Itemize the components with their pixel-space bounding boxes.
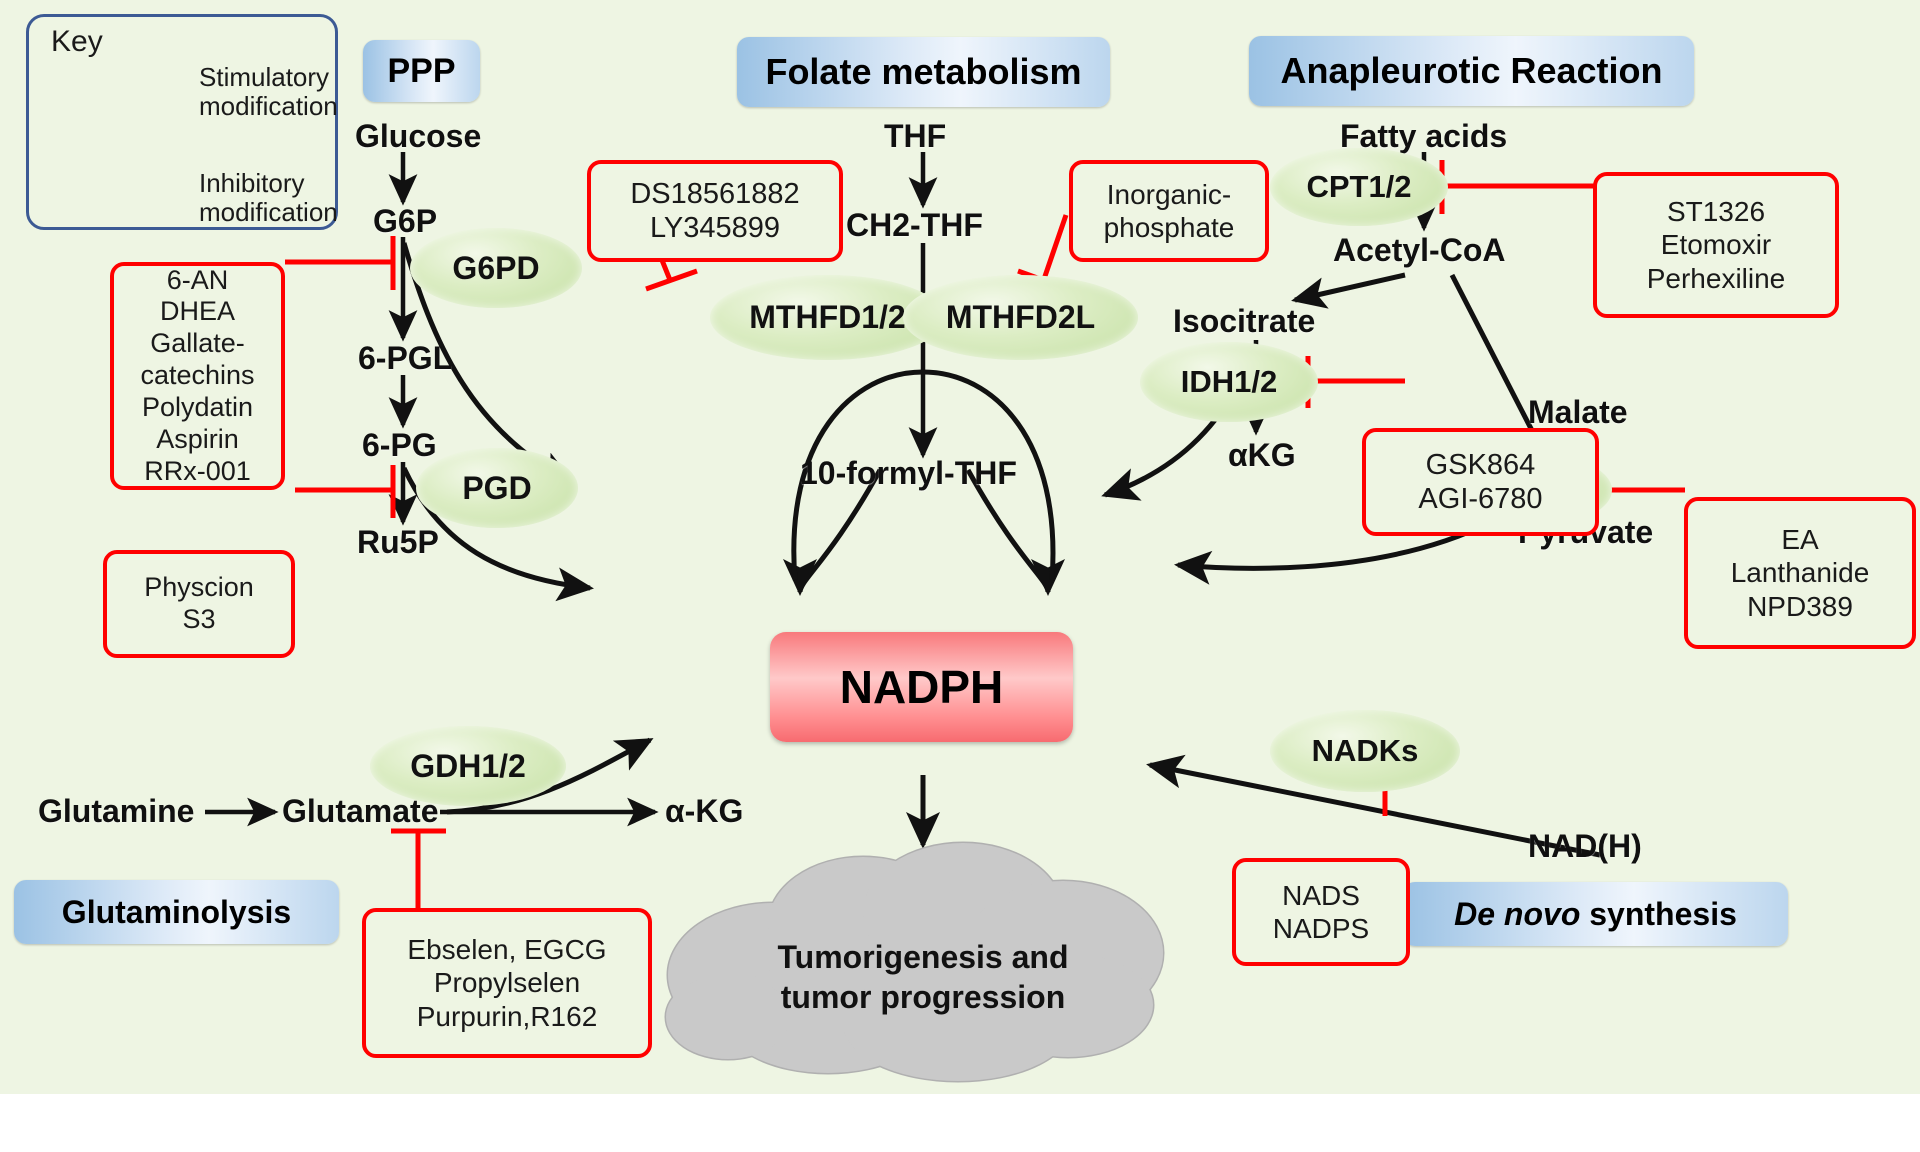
key-title: Key xyxy=(51,25,103,59)
metabolite-akg: αKG xyxy=(1228,437,1296,474)
inhibitor-bar-mthfd12 xyxy=(646,271,697,289)
drug-name: Polydatin xyxy=(142,392,253,424)
drug-name: NPD389 xyxy=(1747,590,1853,623)
enzyme-nadks: NADKs xyxy=(1270,710,1460,792)
metabolite-thf: THF xyxy=(884,118,946,155)
drug-name: EA xyxy=(1781,523,1818,556)
key-legend-box: Key Stimulatorymodification Inhibitorymo… xyxy=(26,14,338,230)
drug-name: AGI-6780 xyxy=(1418,482,1542,516)
drug-name: Propylselen xyxy=(434,966,580,999)
drug-box-me-inhibitors[interactable]: EALanthanideNPD389 xyxy=(1684,497,1916,649)
drug-name: Ebselen, EGCG xyxy=(407,933,606,966)
drug-name: S3 xyxy=(182,604,215,636)
metabolite-ch2-thf: CH2-THF xyxy=(846,207,983,244)
drug-name: phosphate xyxy=(1104,211,1235,244)
drug-name: 6-AN xyxy=(167,265,229,297)
drug-box-mthfd12-inhibitors[interactable]: DS18561882LY345899 xyxy=(587,160,843,262)
drug-name: LY345899 xyxy=(650,211,780,245)
enzyme-g6pd: G6PD xyxy=(410,228,582,308)
key-stimulatory-label: Stimulatorymodification xyxy=(199,63,338,121)
section-header-anapleurotic: Anapleurotic Reaction xyxy=(1249,36,1694,106)
metabolite-acetyl-coa: Acetyl-CoA xyxy=(1333,232,1505,269)
metabolite-isocitrate: Isocitrate xyxy=(1173,303,1315,340)
metabolite-glutamine: Glutamine xyxy=(38,793,194,830)
drug-box-gdh-inhibitors[interactable]: Ebselen, EGCGPropylselenPurpurin,R162 xyxy=(362,908,652,1058)
key-inhibitory-label: Inhibitorymodification xyxy=(199,169,338,227)
enzyme-idh1-2: IDH1/2 xyxy=(1140,342,1318,422)
metabolite-ru5p: Ru5P xyxy=(357,524,439,561)
drug-name: Lanthanide xyxy=(1731,556,1870,589)
section-header-folate: Folate metabolism xyxy=(737,37,1110,107)
enzyme-gdh: GDH1/2 xyxy=(370,726,566,806)
drug-name: ST1326 xyxy=(1667,195,1765,228)
section-header-ppp: PPP xyxy=(363,40,480,102)
drug-name: Gallate- xyxy=(150,328,245,360)
drug-name: RRx-001 xyxy=(144,456,251,488)
metabolite-akg-glutaminolysis: α-KG xyxy=(665,793,743,830)
metabolite-10-formyl-thf: 10-formyl-THF xyxy=(800,455,1017,492)
drug-name: GSK864 xyxy=(1426,448,1536,482)
drug-box-pgd-inhibitors[interactable]: PhyscionS3 xyxy=(103,550,295,658)
drug-name: Inorganic- xyxy=(1107,178,1232,211)
metabolite-6pgl: 6-PGL xyxy=(358,340,452,377)
metabolite-g6p: G6P xyxy=(373,203,437,240)
drug-name: Aspirin xyxy=(156,424,239,456)
enzyme-cpt1-2: CPT1/2 xyxy=(1270,148,1448,226)
tumor-outcome-label: Tumorigenesis andtumor progression xyxy=(713,938,1133,1017)
section-header-de-novo: De novo synthesis xyxy=(1403,882,1788,946)
drug-name: catechins xyxy=(140,360,254,392)
metabolite-malate: Malate xyxy=(1528,394,1628,431)
de-novo-plain-part: synthesis xyxy=(1589,896,1737,933)
de-novo-italic-part: De novo xyxy=(1454,896,1580,933)
drug-name: Purpurin,R162 xyxy=(417,1000,598,1033)
drug-name: DS18561882 xyxy=(630,177,799,211)
enzyme-pgd: PGD xyxy=(416,448,578,528)
inhibitor-line-mthfd2l xyxy=(1043,215,1066,282)
metabolite-6pg: 6-PG xyxy=(362,427,437,464)
drug-box-idh-inhibitors[interactable]: GSK864AGI-6780 xyxy=(1362,428,1599,536)
drug-name: Etomoxir xyxy=(1661,228,1771,261)
drug-name: DHEA xyxy=(160,296,235,328)
diagram-canvas: Key Stimulatorymodification Inhibitorymo… xyxy=(0,0,1920,1152)
drug-box-nadks-inhibitors[interactable]: NADSNADPS xyxy=(1232,858,1410,966)
drug-box-cpt-inhibitors[interactable]: ST1326EtomoxirPerhexiline xyxy=(1593,172,1839,318)
nadph-node: NADPH xyxy=(770,632,1073,742)
metabolite-nadh: NAD(H) xyxy=(1528,828,1642,865)
enzyme-mthfd2l: MTHFD2L xyxy=(903,275,1138,360)
drug-name: Perhexiline xyxy=(1647,262,1786,295)
metabolite-glucose: Glucose xyxy=(355,118,481,155)
drug-box-g6pd-inhibitors[interactable]: 6-ANDHEAGallate-catechinsPolydatinAspiri… xyxy=(110,262,285,490)
drug-name: NADS xyxy=(1282,879,1360,912)
section-header-glutaminolysis: Glutaminolysis xyxy=(14,880,339,944)
drug-box-mthfd2l-inhibitors[interactable]: Inorganic-phosphate xyxy=(1069,160,1269,262)
drug-name: Physcion xyxy=(144,572,254,604)
drug-name: NADPS xyxy=(1273,912,1369,945)
